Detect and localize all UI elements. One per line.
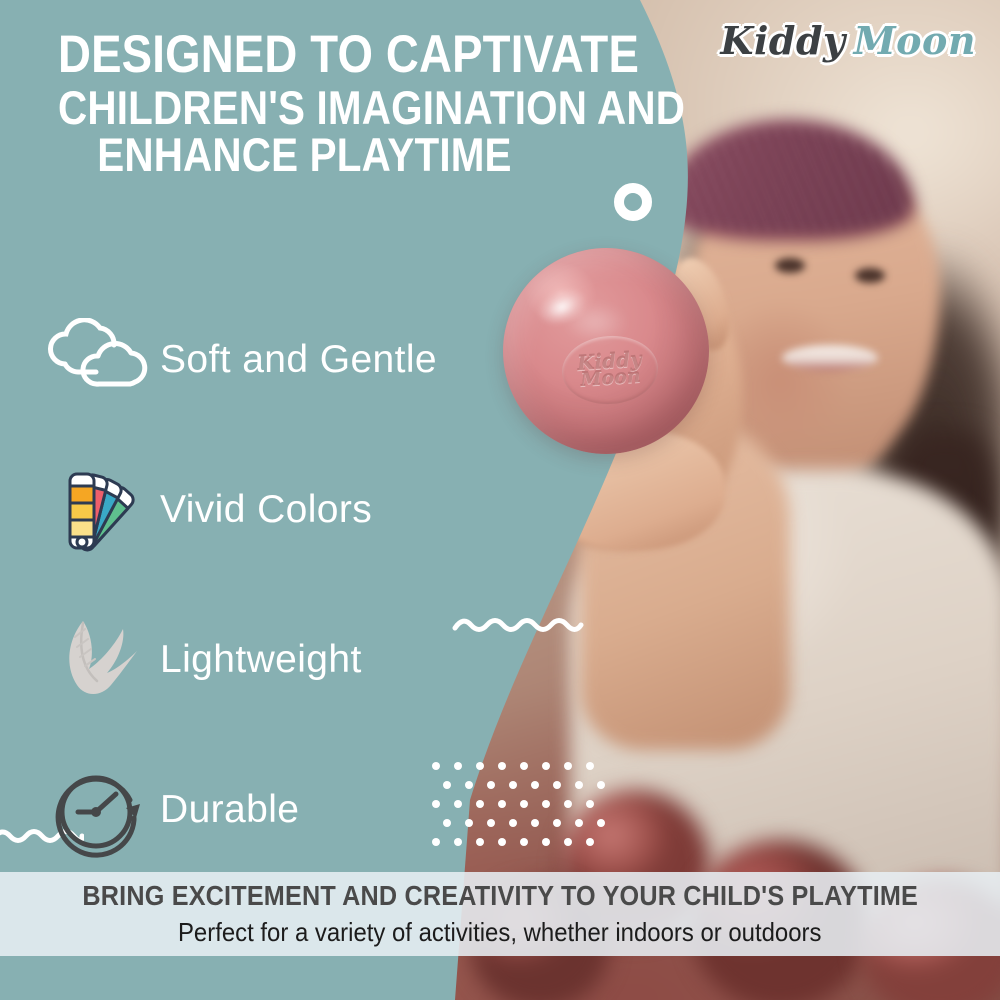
cloud-icon <box>40 310 160 410</box>
product-infographic: Kiddy Moon DESIGNED TO CAPTIVATE CHILDRE… <box>0 0 1000 1000</box>
feature-item-soft-and-gentle: Soft and Gentle <box>40 285 470 435</box>
bottom-banner: BRING EXCITEMENT AND CREATIVITY TO YOUR … <box>0 872 1000 956</box>
wavy-line-icon <box>452 612 584 643</box>
feature-label: Durable <box>160 788 299 832</box>
child-eye-right <box>855 268 885 283</box>
brand-logo-moon: Moon <box>854 18 976 63</box>
teal-strip-below-banner <box>0 956 455 1000</box>
feature-item-lightweight: Lightweight <box>40 585 470 735</box>
feature-label: Vivid Colors <box>160 488 372 532</box>
brand-logo-kiddy: Kiddy <box>720 18 845 63</box>
child-smile <box>782 345 878 371</box>
feature-list: Soft and Gentle <box>40 285 470 885</box>
banner-subtitle: Perfect for a variety of activities, whe… <box>178 917 821 948</box>
circle-outline-icon <box>614 183 652 221</box>
headline-line-1: DESIGNED TO CAPTIVATE <box>58 30 540 81</box>
headline-line-3: ENHANCE PLAYTIME <box>97 132 579 177</box>
feature-label: Lightweight <box>160 638 362 682</box>
feature-item-vivid-colors: Vivid Colors <box>40 435 470 585</box>
clock-arrow-icon <box>40 760 160 860</box>
banner-title: BRING EXCITEMENT AND CREATIVITY TO YOUR … <box>82 880 918 912</box>
feature-label: Soft and Gentle <box>160 338 437 382</box>
child-eye-left <box>775 258 805 273</box>
headline: DESIGNED TO CAPTIVATE CHILDREN'S IMAGINA… <box>58 30 618 177</box>
color-swatch-fan-icon <box>40 460 160 560</box>
headline-line-2: CHILDREN'S IMAGINATION AND <box>58 85 540 130</box>
brand-logo: KiddyMoon <box>720 18 976 63</box>
feather-icon <box>40 610 160 710</box>
ball-emboss-line2: Moon <box>580 368 641 390</box>
